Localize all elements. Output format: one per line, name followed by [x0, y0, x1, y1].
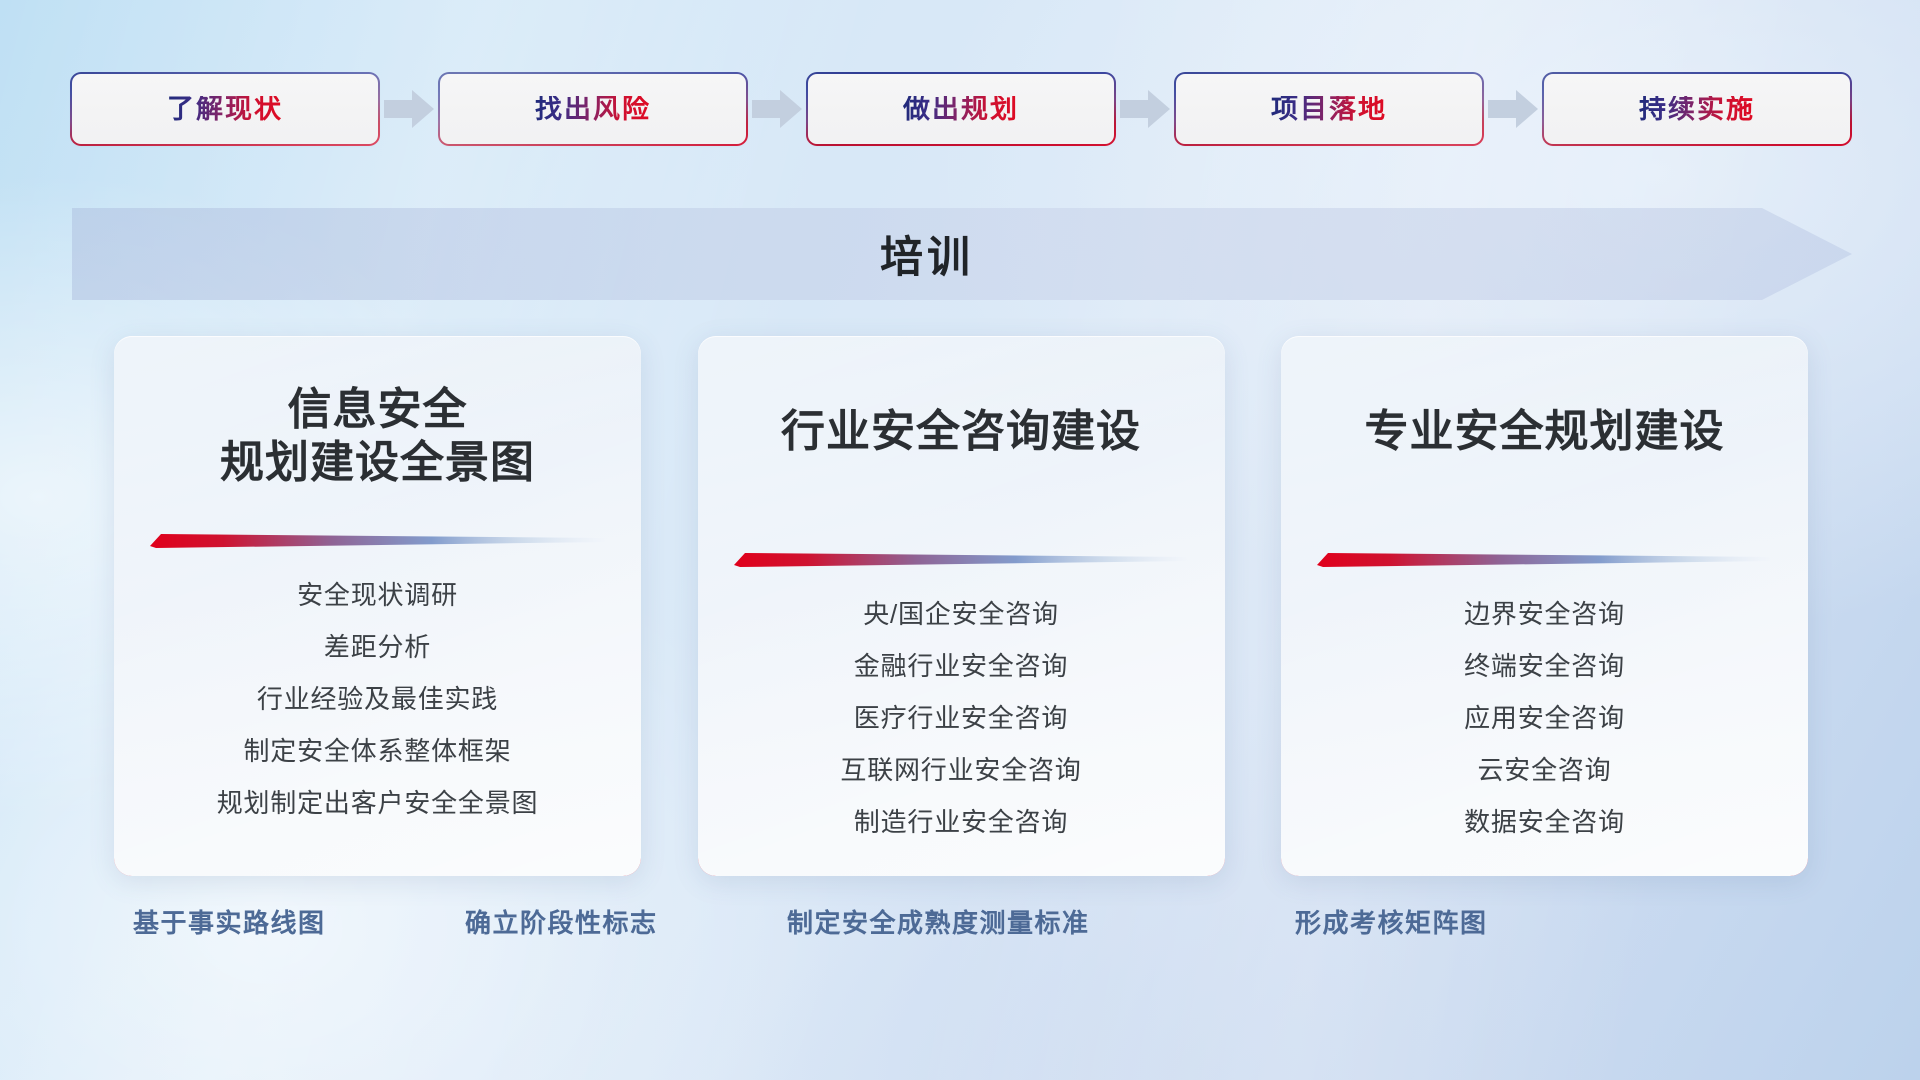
- step-arrow-icon-3: [1114, 86, 1176, 132]
- list-item: 金融行业安全咨询: [698, 653, 1225, 679]
- list-item: 云安全咨询: [1281, 757, 1808, 783]
- card-industry-security-consulting[interactable]: 行业安全咨询建设: [698, 336, 1225, 876]
- footer-label-maturity: 制定安全成熟度测量标准: [787, 910, 1090, 936]
- card-title-line-2: 规划建设全景图: [134, 437, 621, 490]
- footer-label-roadmap: 基于事实路线图: [133, 910, 326, 936]
- card-title: 专业安全规划建设: [1281, 406, 1808, 459]
- footer-label-matrix: 形成考核矩阵图: [1295, 910, 1488, 936]
- footer-label-row: 基于事实路线图 确立阶段性标志 制定安全成熟度测量标准 形成考核矩阵图: [0, 910, 1920, 958]
- list-item: 行业经验及最佳实践: [114, 686, 641, 712]
- process-step-bar: 了解现状 找出风险 做出规划 项目落地 持续实施: [72, 74, 1848, 144]
- card-accent-line: [734, 551, 1189, 567]
- step-box-1[interactable]: 了解现状: [72, 74, 378, 144]
- card-title-line-1: 专业安全规划建设: [1301, 406, 1788, 459]
- step-label: 项目落地: [1271, 96, 1387, 123]
- step-label: 持续实施: [1639, 96, 1755, 123]
- card-title: 信息安全 规划建设全景图: [114, 384, 641, 490]
- card-title-line-1: 信息安全: [134, 384, 621, 437]
- step-box-4[interactable]: 项目落地: [1176, 74, 1482, 144]
- list-item: 差距分析: [114, 634, 641, 660]
- card-information-security-blueprint[interactable]: 信息安全 规划建设全景图: [114, 336, 641, 876]
- step-box-2[interactable]: 找出风险: [440, 74, 746, 144]
- training-banner: 培训: [72, 208, 1852, 300]
- card-item-list: 安全现状调研 差距分析 行业经验及最佳实践 制定安全体系整体框架 规划制定出客户…: [114, 582, 641, 816]
- list-item: 制造行业安全咨询: [698, 809, 1225, 835]
- list-item: 终端安全咨询: [1281, 653, 1808, 679]
- step-arrow-icon-1: [378, 86, 440, 132]
- footer-label-milestone: 确立阶段性标志: [465, 910, 658, 936]
- card-title-line-1: 行业安全咨询建设: [718, 406, 1205, 459]
- list-item: 数据安全咨询: [1281, 809, 1808, 835]
- card-title: 行业安全咨询建设: [698, 406, 1225, 459]
- step-arrow-icon-4: [1482, 86, 1544, 132]
- card-accent-line: [1317, 551, 1772, 567]
- list-item: 应用安全咨询: [1281, 705, 1808, 731]
- step-box-3[interactable]: 做出规划: [808, 74, 1114, 144]
- step-label: 了解现状: [167, 96, 283, 123]
- step-label: 做出规划: [903, 96, 1019, 123]
- list-item: 规划制定出客户安全全景图: [114, 790, 641, 816]
- list-item: 安全现状调研: [114, 582, 641, 608]
- card-item-list: 央/国企安全咨询 金融行业安全咨询 医疗行业安全咨询 互联网行业安全咨询 制造行…: [698, 601, 1225, 835]
- step-label: 找出风险: [535, 96, 651, 123]
- list-item: 制定安全体系整体框架: [114, 738, 641, 764]
- card-item-list: 边界安全咨询 终端安全咨询 应用安全咨询 云安全咨询 数据安全咨询: [1281, 601, 1808, 835]
- list-item: 互联网行业安全咨询: [698, 757, 1225, 783]
- card-group: 信息安全 规划建设全景图: [114, 336, 1808, 876]
- card-professional-security-planning[interactable]: 专业安全规划建设: [1281, 336, 1808, 876]
- list-item: 医疗行业安全咨询: [698, 705, 1225, 731]
- card-accent-line: [150, 532, 605, 548]
- banner-title: 培训: [72, 208, 1852, 300]
- list-item: 央/国企安全咨询: [698, 601, 1225, 627]
- list-item: 边界安全咨询: [1281, 601, 1808, 627]
- step-arrow-icon-2: [746, 86, 808, 132]
- step-box-5[interactable]: 持续实施: [1544, 74, 1850, 144]
